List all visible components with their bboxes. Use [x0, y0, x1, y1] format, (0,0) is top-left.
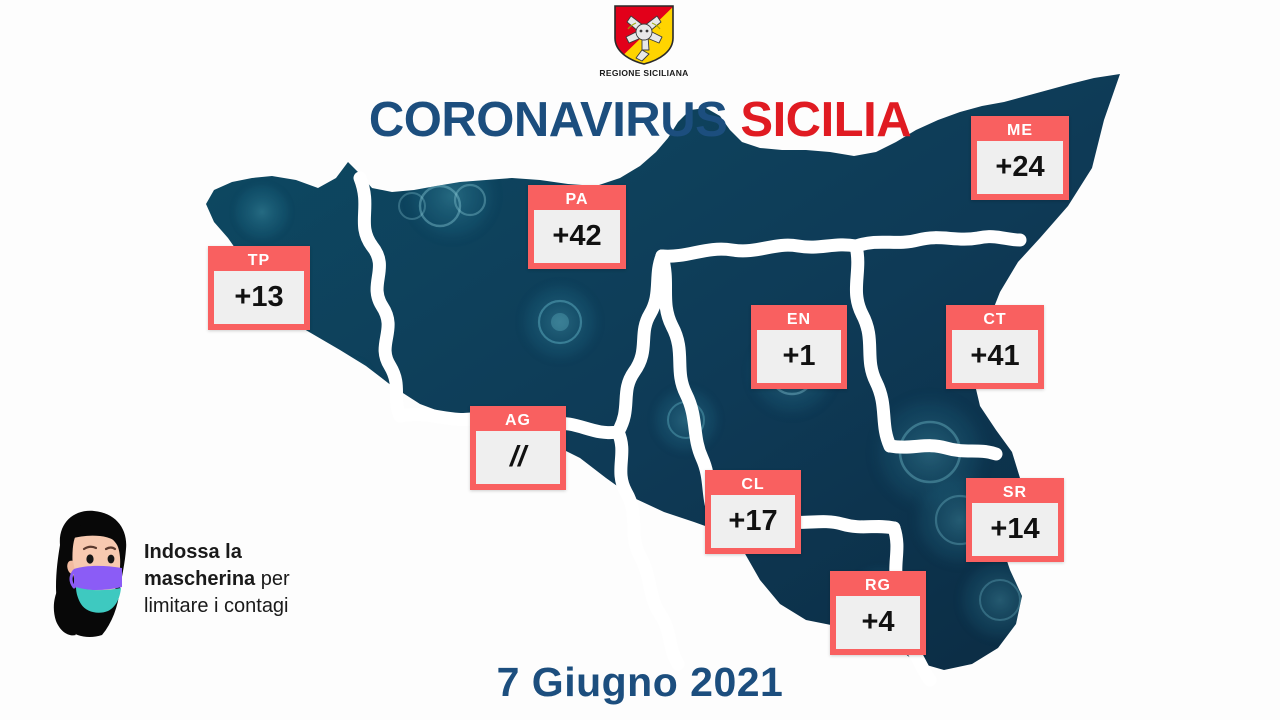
page-title: CORONAVIRUS SICILIA	[0, 92, 1280, 148]
province-value-rg: +4	[836, 596, 920, 649]
title-sicilia: SICILIA	[740, 93, 911, 147]
province-code-en: EN	[757, 310, 841, 330]
province-code-sr: SR	[972, 483, 1058, 503]
province-value-cl: +17	[711, 495, 795, 548]
province-value-ct: +41	[952, 330, 1038, 383]
province-badge-rg[interactable]: RG +4	[830, 571, 926, 655]
report-date: 7 Giugno 2021	[0, 659, 1280, 706]
province-badge-tp[interactable]: TP +13	[208, 246, 310, 330]
province-code-me: ME	[977, 121, 1063, 141]
province-value-en: +1	[757, 330, 841, 383]
regione-siciliana-crest: REGIONE SICILIANA	[608, 4, 680, 86]
province-badge-me[interactable]: ME +24	[971, 116, 1069, 200]
title-coronavirus: CORONAVIRUS	[369, 93, 727, 147]
mask-line-1: Indossa la	[144, 541, 242, 563]
sicily-coat-of-arms-trinacria-icon	[612, 4, 676, 66]
person-wearing-mask-icon	[40, 505, 144, 641]
province-badge-en[interactable]: EN +1	[751, 305, 847, 389]
province-code-tp: TP	[214, 251, 304, 271]
mask-line-3: limitare i contagi	[144, 595, 289, 617]
border-ct-sr	[890, 446, 996, 454]
province-value-tp: +13	[214, 271, 304, 324]
province-badge-pa[interactable]: PA +42	[528, 185, 626, 269]
province-code-rg: RG	[836, 576, 920, 596]
mask-callout-text: Indossa la mascherina per limitare i con…	[144, 539, 350, 620]
province-badge-ct[interactable]: CT +41	[946, 305, 1044, 389]
province-code-pa: PA	[534, 190, 620, 210]
province-code-ag: AG	[476, 411, 560, 431]
mask-line-2-strong: mascherina	[144, 568, 255, 590]
province-badge-cl[interactable]: CL +17	[705, 470, 801, 554]
province-badge-sr[interactable]: SR +14	[966, 478, 1064, 562]
mask-line-2-light: per	[255, 568, 289, 590]
mask-callout: Indossa la mascherina per limitare i con…	[40, 505, 350, 650]
province-code-ct: CT	[952, 310, 1038, 330]
province-value-sr: +14	[972, 503, 1058, 556]
crest-caption: REGIONE SICILIANA	[586, 68, 702, 78]
infographic-page: REGIONE SICILIANA CORONAVIRUS SICILIA TP…	[0, 0, 1280, 720]
province-badge-ag[interactable]: AG //	[470, 406, 566, 490]
province-value-ag: //	[476, 431, 560, 484]
province-code-cl: CL	[711, 475, 795, 495]
province-value-me: +24	[977, 141, 1063, 194]
province-value-pa: +42	[534, 210, 620, 263]
